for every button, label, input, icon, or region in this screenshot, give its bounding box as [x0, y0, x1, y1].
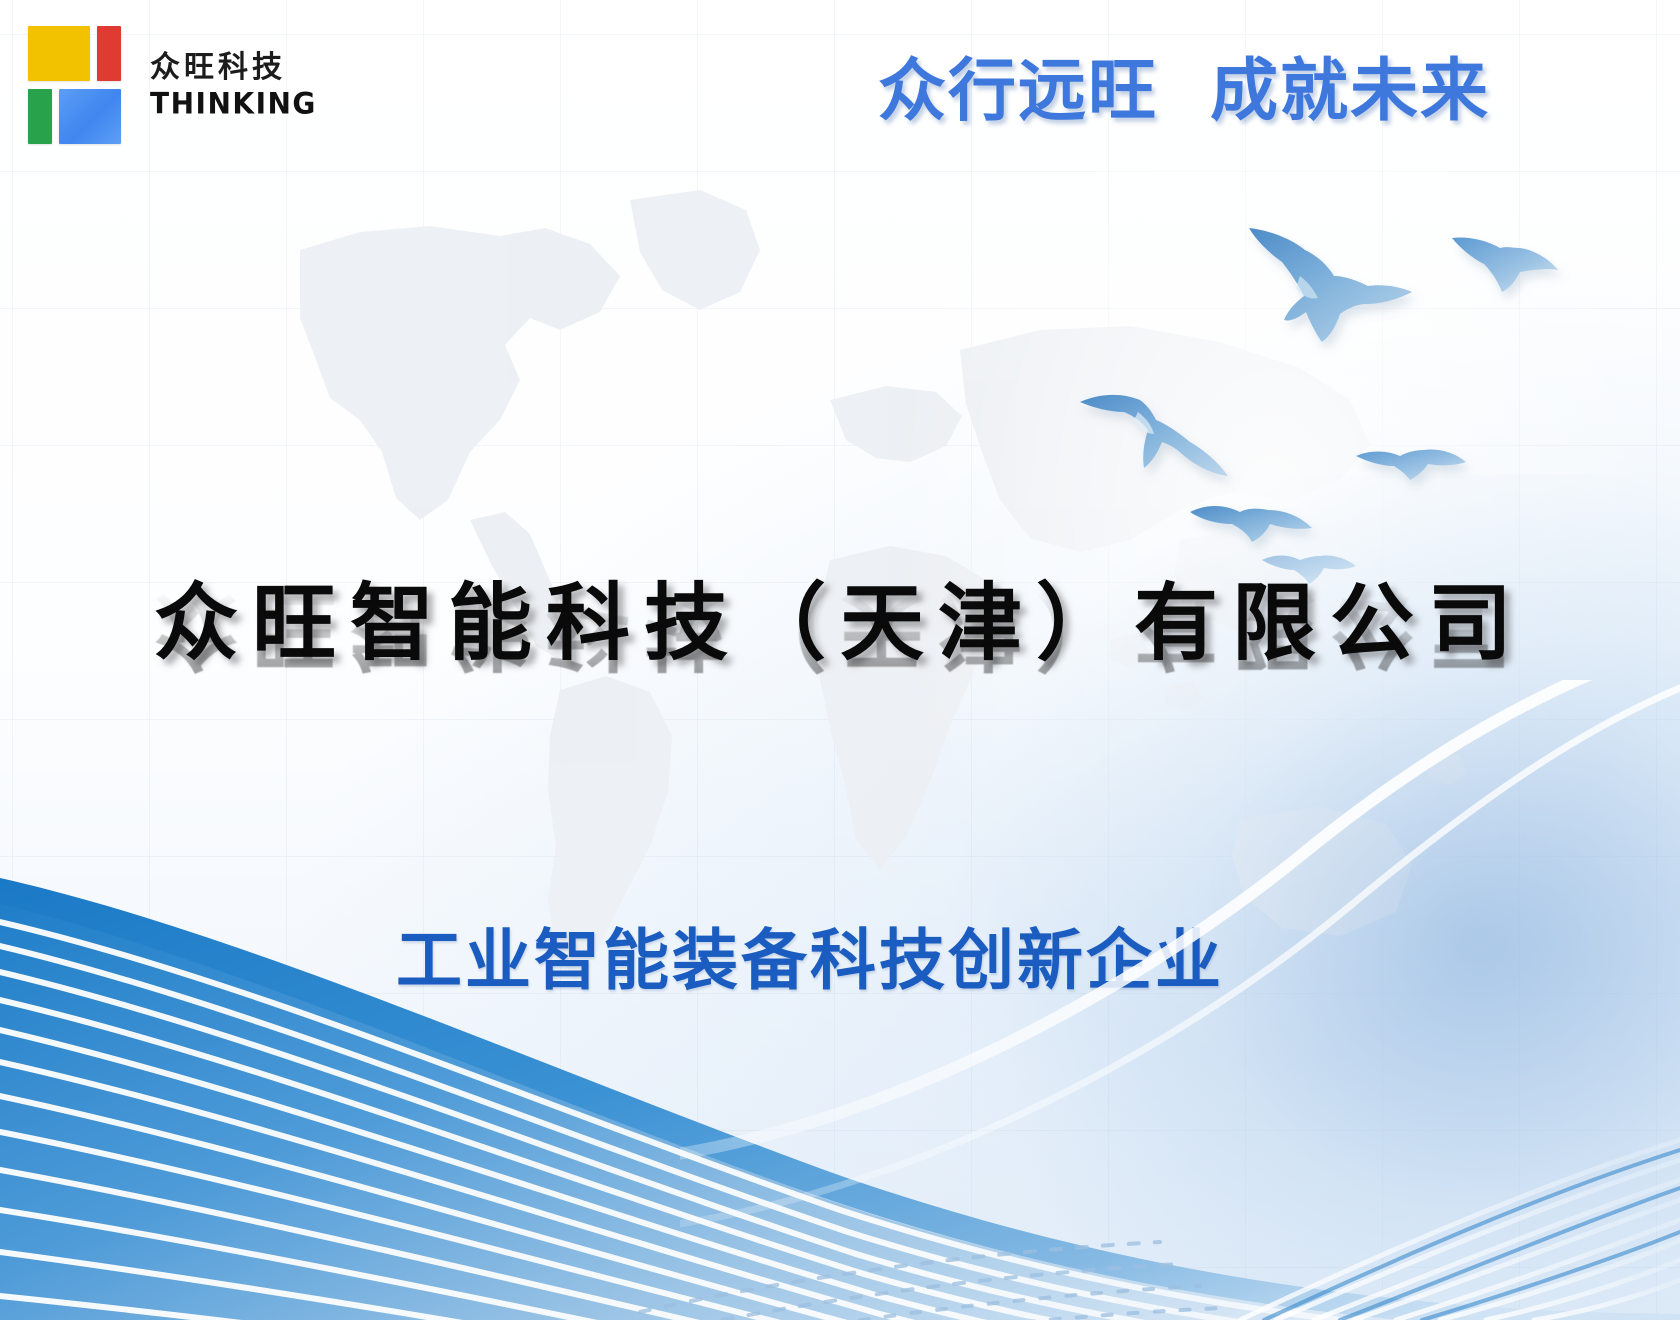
- logo-brand-en: THINKING: [150, 89, 317, 119]
- seagull-5: [1190, 506, 1312, 542]
- white-sweep-curve: [680, 680, 1680, 1320]
- logo-color-blocks: [28, 26, 124, 144]
- logo-brand-cn: 众旺科技: [150, 53, 317, 83]
- page-title-reflection: 众旺智能科技（天津）有限公司: [154, 584, 1526, 675]
- logo-wordmark: 众旺科技 THINKING: [150, 53, 317, 117]
- yellow-block-icon: [28, 26, 90, 81]
- seagull-3: [1080, 395, 1228, 476]
- company-logo: 众旺科技 THINKING: [28, 26, 317, 144]
- blue-block-icon: [59, 89, 121, 144]
- tagline-left: 众行远旺: [878, 52, 1158, 131]
- seagull-4: [1356, 450, 1466, 481]
- red-block-icon: [97, 26, 121, 81]
- slide-tagline: 众行远旺成就未来: [878, 58, 1490, 126]
- tagline-right: 成就未来: [1210, 52, 1490, 131]
- green-block-icon: [28, 89, 52, 144]
- presentation-slide: 众旺科技 THINKING 众行远旺成就未来 众旺智能科技（天津）有限公司 众旺…: [0, 0, 1680, 1320]
- seagull-1: [1249, 228, 1412, 342]
- seagull-2: [1452, 237, 1558, 292]
